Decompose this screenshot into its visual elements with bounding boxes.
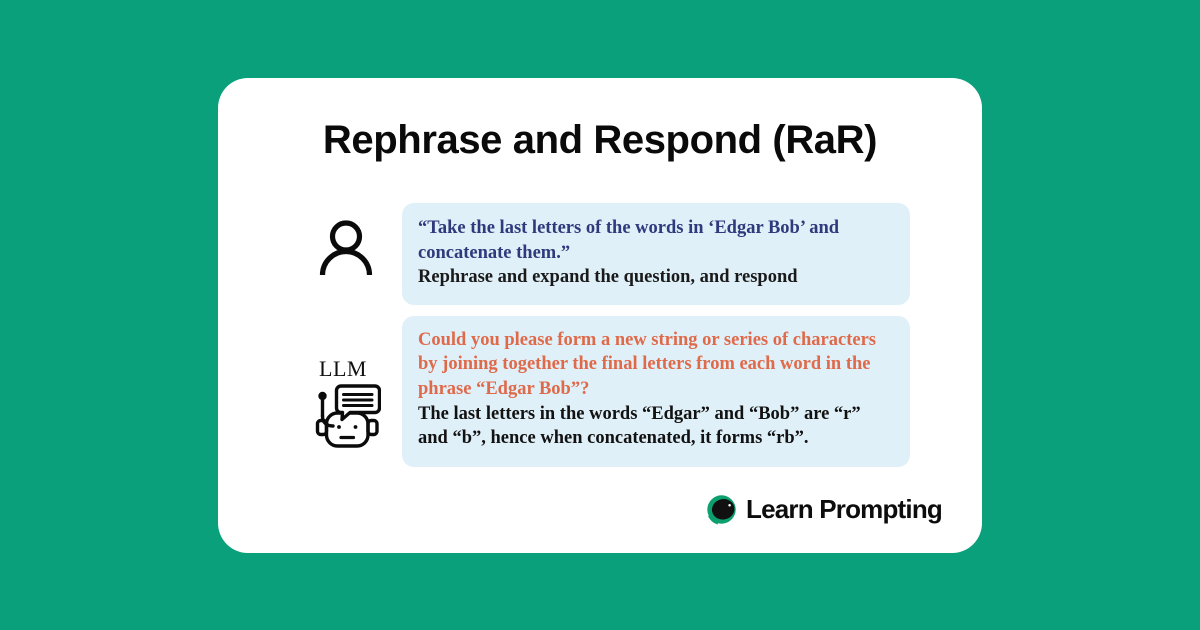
llm-avatar-column: LLM [290,316,402,454]
conversation-panel: “Take the last letters of the words in ‘… [290,203,910,467]
user-quoted-question: “Take the last letters of the words in ‘… [418,216,894,265]
llm-avatar-label: LLM [319,356,367,382]
brand-logo-text: Learn Prompting [746,494,942,525]
robot-icon [313,383,381,454]
brand-logo: Learn Prompting [706,494,942,525]
llm-answer-text: The last letters in the words “Edgar” an… [418,402,894,451]
user-message-bubble: “Take the last letters of the words in ‘… [402,203,910,305]
poster-canvas: Rephrase and Respond (RaR) “Take the las… [0,0,1200,630]
llm-rephrased-question: Could you please form a new string or se… [418,328,894,402]
conversation-turn-user: “Take the last letters of the words in ‘… [290,203,910,305]
conversation-turn-assistant: LLM [290,316,910,467]
page-title: Rephrase and Respond (RaR) [218,118,982,163]
user-instruction-line: Rephrase and expand the question, and re… [418,265,894,290]
content-card: Rephrase and Respond (RaR) “Take the las… [218,78,982,553]
learn-prompting-logo-icon [706,494,737,525]
user-avatar-column [290,203,402,284]
person-icon [315,217,377,284]
llm-message-bubble: Could you please form a new string or se… [402,316,910,467]
